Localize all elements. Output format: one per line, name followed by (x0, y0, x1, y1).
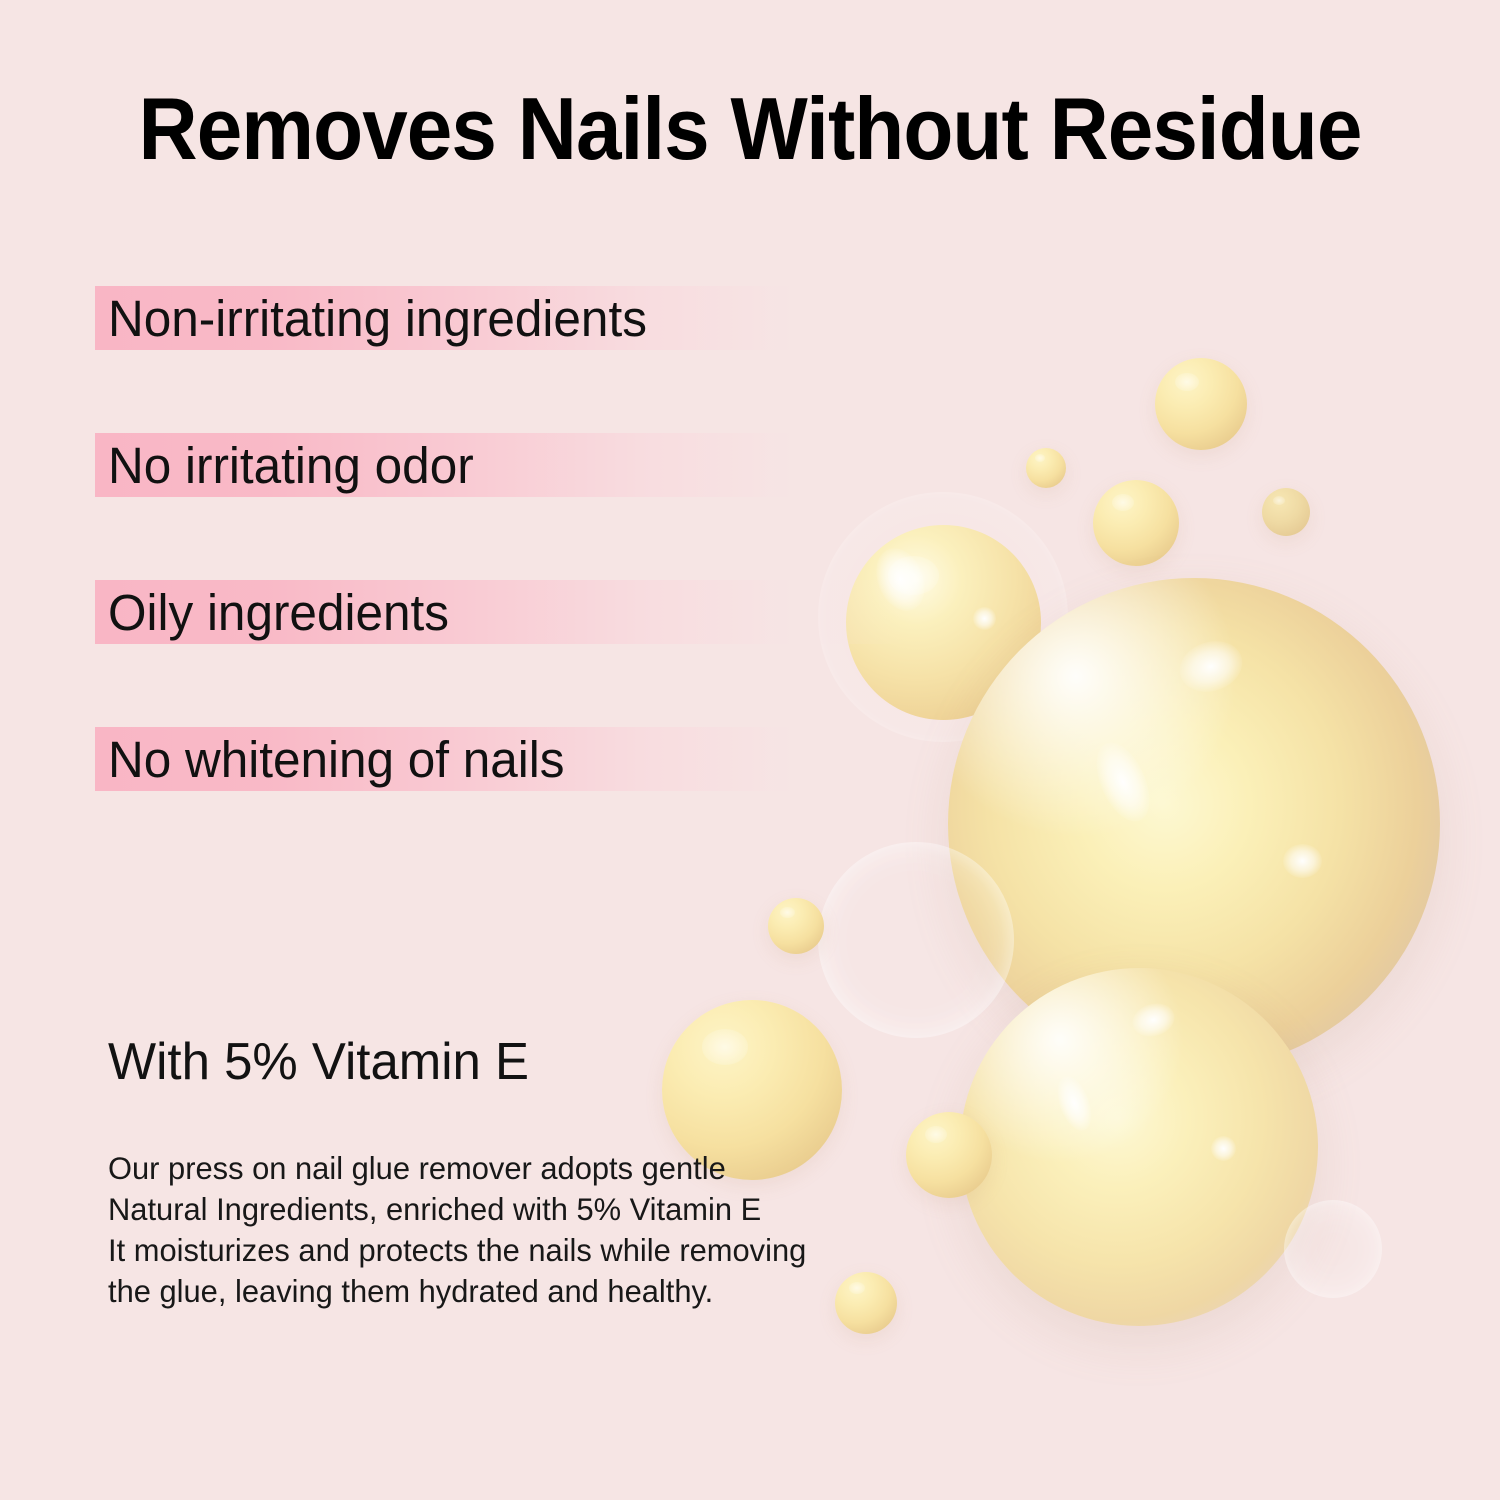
bubble-lower-right-icon (960, 968, 1318, 1326)
description-line: the glue, leaving them hydrated and heal… (108, 1271, 806, 1312)
feature-item-no-irritating-odor: No irritating odor (0, 433, 920, 497)
droplet-bottom-icon (835, 1272, 897, 1334)
feature-item-no-whitening-of-nails: No whitening of nails (0, 727, 920, 791)
feature-label: No whitening of nails (108, 730, 564, 789)
droplet-pair-small-icon (768, 898, 824, 954)
droplet-tiny-left-icon (1026, 448, 1066, 488)
droplet-top-right-icon (1155, 358, 1247, 450)
product-description: Our press on nail glue remover adopts ge… (108, 1148, 806, 1312)
feature-label: Non-irritating ingredients (108, 289, 647, 348)
description-line: Our press on nail glue remover adopts ge… (108, 1148, 806, 1189)
droplet-small-right-icon (1262, 488, 1310, 536)
bubble-glass-bottom-icon (1284, 1200, 1382, 1298)
feature-label: Oily ingredients (108, 583, 449, 642)
vitamin-heading: With 5% Vitamin E (108, 1032, 529, 1092)
droplet-lower-mid-icon (906, 1112, 992, 1198)
feature-item-non-irritating-ingredients: Non-irritating ingredients (0, 286, 920, 350)
product-feature-graphic: Removes Nails Without Residue (0, 0, 1500, 1500)
droplet-mid-right-icon (1093, 480, 1179, 566)
description-line: It moisturizes and protects the nails wh… (108, 1230, 806, 1271)
description-line: Natural Ingredients, enriched with 5% Vi… (108, 1189, 806, 1230)
feature-list: Non-irritating ingredients No irritating… (0, 286, 920, 874)
feature-item-oily-ingredients: Oily ingredients (0, 580, 920, 644)
page-title: Removes Nails Without Residue (53, 78, 1448, 180)
bubble-large-center-icon (948, 578, 1440, 1070)
feature-label: No irritating odor (108, 436, 474, 495)
